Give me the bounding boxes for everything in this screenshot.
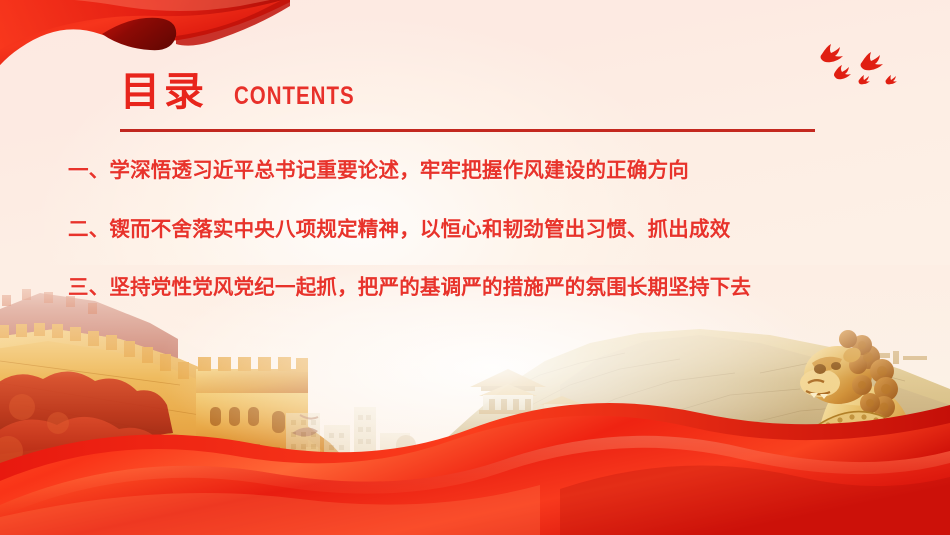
wave-front — [0, 436, 950, 535]
contents-item-3[interactable]: 三、坚持党性党风党纪一起抓，把严的基调严的措施严的氛围长期坚持下去 — [68, 277, 898, 298]
page-title-cn: 目录 — [120, 72, 208, 112]
wave-highlight — [0, 436, 950, 517]
wall-crenellations — [0, 323, 189, 379]
scenery-illustration — [0, 265, 950, 535]
doves-illustration — [812, 40, 908, 90]
ridge-wall — [852, 349, 927, 365]
page-title-en: CONTENTS — [234, 84, 355, 112]
guardian-lion-statue — [786, 330, 930, 535]
scenery-haze — [0, 265, 950, 535]
lion-mane — [839, 330, 898, 433]
lion-bell — [818, 434, 838, 460]
distant-city — [286, 407, 416, 473]
ribbon-band-main — [0, 0, 290, 78]
bottom-red-waves — [0, 385, 950, 535]
wave-back — [0, 403, 950, 535]
mountain-range — [430, 329, 950, 465]
watch-tower — [196, 357, 318, 467]
lion-paw-ball — [798, 485, 876, 533]
contents-item-2[interactable]: 二、锲而不舍落实中央八项规定精神，以恒心和韧劲管出习惯、抓出成效 — [68, 219, 898, 240]
red-silk-waves-illustration — [0, 385, 950, 535]
scenery-layer — [0, 265, 950, 535]
autumn-foliage — [0, 371, 246, 535]
contents-item-1[interactable]: 一、学深悟透习近平总书记重要论述，牢牢把握作风建设的正确方向 — [68, 160, 898, 181]
title-divider — [120, 129, 815, 132]
pagoda — [470, 369, 584, 416]
page-title-row: 目录 CONTENTS — [120, 72, 381, 112]
slide-root: 目录 CONTENTS 一、学深悟透习近平总书记重要论述，牢牢把握作风建设的正确… — [0, 0, 950, 535]
great-wall — [0, 289, 470, 535]
contents-list: 一、学深悟透习近平总书记重要论述，牢牢把握作风建设的正确方向 二、锲而不舍落实中… — [68, 160, 898, 298]
ribbon-band-top — [0, 0, 290, 56]
ribbon-fold — [102, 18, 176, 50]
wave-middle — [0, 416, 950, 535]
wall-crenellations-lower — [306, 447, 432, 524]
flying-doves-icon — [812, 40, 908, 90]
